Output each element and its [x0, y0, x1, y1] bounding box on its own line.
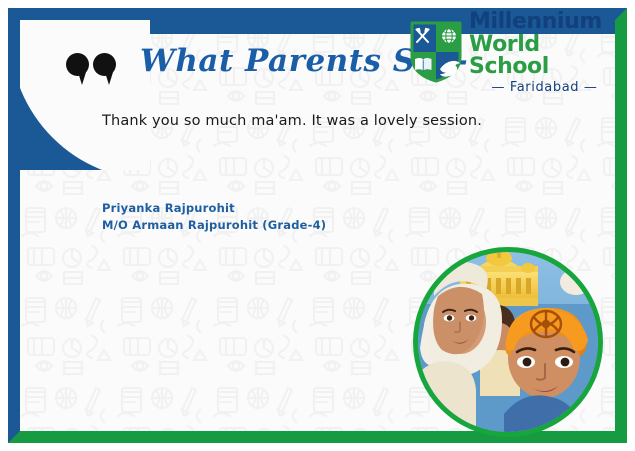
- testimonial-poster: What Parents Say-: [0, 0, 635, 451]
- testimonial-text: Thank you so much ma'am. It was a lovely…: [102, 113, 532, 129]
- school-logo: Millennium World School — Faridabad —: [410, 16, 620, 88]
- school-location: — Faridabad —: [469, 81, 620, 94]
- quote-bubble-right-tail: [104, 69, 114, 85]
- school-name-line1: Millennium: [469, 11, 620, 33]
- quote-bubble-left-tail: [77, 69, 87, 85]
- school-crest-icon: [410, 21, 462, 83]
- photo-illustration: [418, 252, 598, 432]
- testimonial-author: Priyanka Rajpurohit M/O Armaan Rajpurohi…: [102, 200, 326, 233]
- header-blue-curve: [20, 20, 150, 170]
- author-relation: M/O Armaan Rajpurohit (Grade-4): [102, 217, 326, 234]
- school-name-line2: World School: [469, 34, 620, 78]
- author-name: Priyanka Rajpurohit: [102, 200, 326, 217]
- school-name-block: Millennium World School — Faridabad —: [469, 11, 620, 94]
- parent-photo-image: [418, 252, 598, 432]
- parent-photo: [413, 247, 603, 437]
- quotation-bubbles-icon: [66, 53, 120, 95]
